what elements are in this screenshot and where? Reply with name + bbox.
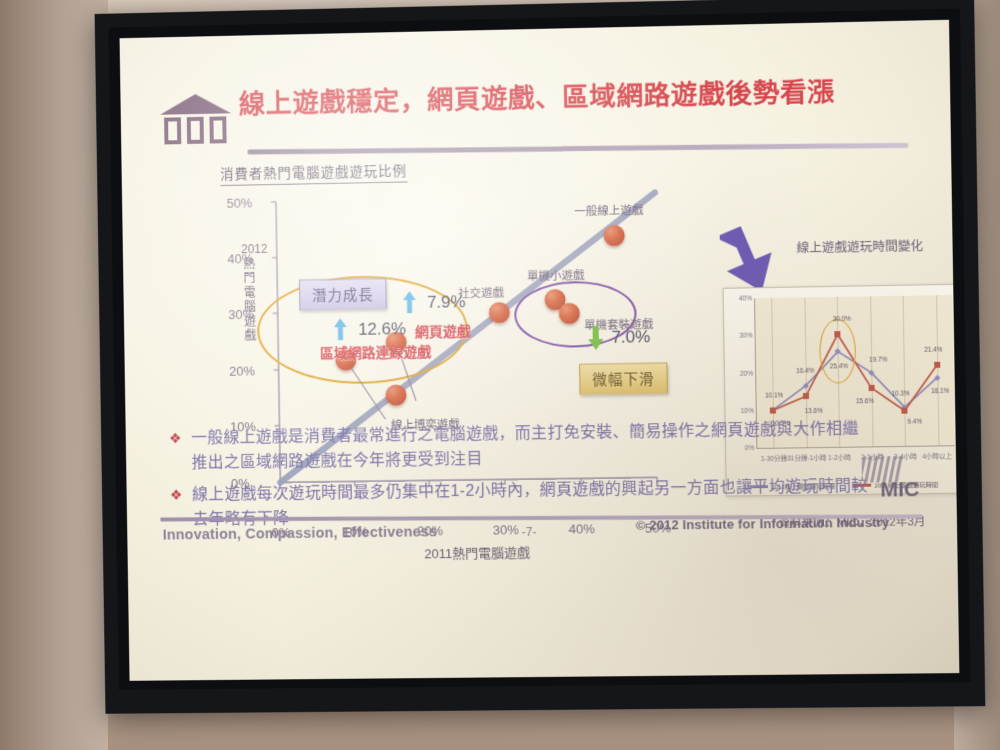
inset-label-2011: 21.4%	[924, 346, 942, 353]
inset-ytick: 40%	[726, 295, 752, 302]
chart-caption: 消費者熱門電腦遊戲遊玩比例	[220, 160, 407, 187]
footer-page-number: -7-	[522, 525, 537, 539]
inset-label-2012: 25.4%	[830, 362, 848, 369]
inset-marker-2011[interactable]	[868, 385, 874, 391]
inset-label-2012: 10.1%	[765, 392, 783, 399]
scatter-x-axis-title: 2011熱門電腦遊戲	[424, 542, 530, 562]
tag-slight-decline: 微幅下滑	[579, 362, 668, 394]
projection-screen-frame: 線上遊戲穩定，網頁遊戲、區域網路遊戲後勢看漲 消費者熱門電腦遊戲遊玩比例 201…	[95, 0, 986, 714]
institute-pillar-logo	[158, 91, 234, 150]
arrow-up-icon	[334, 318, 347, 340]
arrow-down-icon	[588, 326, 603, 350]
inset-ytick: 20%	[727, 370, 753, 377]
title-underline	[248, 143, 909, 155]
inset-marker-2011[interactable]	[902, 408, 908, 414]
inset-label-2011: 9.4%	[907, 418, 922, 425]
wall-left-panel	[0, 0, 108, 750]
footer-tagline: Innovation, Compassion, Effectiveness	[163, 524, 438, 543]
footer-copyright: © 2012 Institute for Information Industr…	[636, 515, 890, 533]
inset-marker-2012[interactable]	[934, 374, 940, 380]
bullet-item: ❖ 一般線上遊戲是消費者最常進行之電腦遊戲，而主打免安裝、簡易操作之網頁遊戲與大…	[169, 416, 869, 476]
inset-marker-2011[interactable]	[934, 362, 940, 368]
inset-label-2012: 19.7%	[869, 356, 887, 363]
inset-marker-2011[interactable]	[770, 407, 776, 413]
mic-wordmark: MIC	[880, 478, 919, 502]
arrow-annotation-text: 線上遊戲遊玩時間變化	[796, 235, 923, 256]
mic-brand-logo: MIC	[862, 453, 942, 502]
bullet-diamond-icon: ❖	[170, 483, 183, 533]
projection-screen-inner: 線上遊戲穩定，網頁遊戲、區域網路遊戲後勢看漲 消費者熱門電腦遊戲遊玩比例 201…	[109, 8, 971, 689]
presentation-slide: 線上遊戲穩定，網頁遊戲、區域網路遊戲後勢看漲 消費者熱門電腦遊戲遊玩比例 201…	[120, 20, 960, 681]
growth-value: 12.6%	[358, 319, 406, 340]
scatter-point-label: 一般線上遊戲	[574, 202, 643, 219]
inset-label-2011: 13.6%	[805, 408, 823, 415]
inset-marker-2012[interactable]	[802, 383, 808, 389]
bullet-text: 一般線上遊戲是消費者最常進行之電腦遊戲，而主打免安裝、簡易操作之網頁遊戲與大作相…	[191, 416, 869, 475]
decline-value: 7.0%	[611, 327, 650, 348]
inset-label-2012: 10.3%	[891, 390, 909, 397]
slide-title: 線上遊戲穩定，網頁遊戲、區域網路遊戲後勢看漲	[239, 75, 912, 120]
inset-ytick: 10%	[727, 407, 753, 414]
scatter-point-label: 單機小遊戲	[527, 267, 585, 284]
inset-label-2011: 15.6%	[856, 398, 874, 405]
inset-marker-2011[interactable]	[803, 393, 809, 399]
arrow-up-icon	[403, 291, 416, 313]
screenshot-root: 線上遊戲穩定，網頁遊戲、區域網路遊戲後勢看漲 消費者熱門電腦遊戲遊玩比例 201…	[0, 0, 1000, 750]
growth-game-name: 網頁遊戲	[415, 321, 471, 342]
inset-label-2012: 16.4%	[796, 367, 814, 374]
growth-game-name: 區域網路連線遊戲	[320, 342, 432, 364]
inset-ytick: 30%	[726, 332, 752, 339]
inset-label-2011: 30.0%	[833, 316, 851, 323]
inset-highlight-ellipse	[819, 318, 856, 383]
inset-label-2012: 18.1%	[931, 388, 949, 395]
growth-value: 7.9%	[427, 292, 466, 313]
tag-potential-growth: 潛力成長	[299, 278, 387, 310]
inset-marker-2012[interactable]	[868, 369, 874, 375]
bullet-diamond-icon: ❖	[169, 426, 182, 476]
